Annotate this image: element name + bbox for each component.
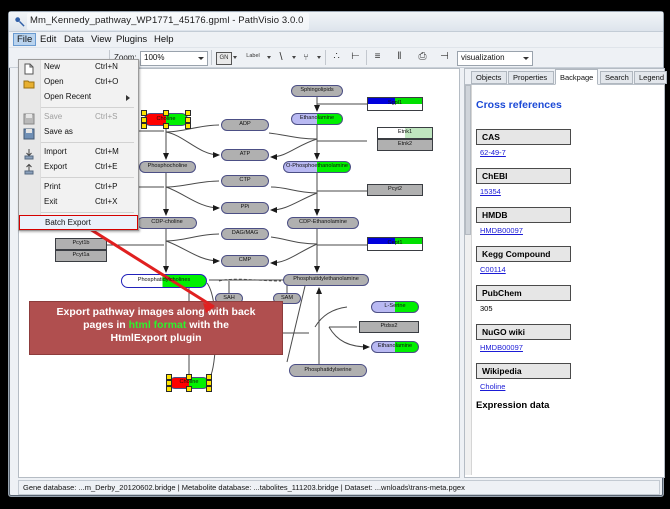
cross-reference-list: CAS62-49-7ChEBI15354HMDBHMDB00097Kegg Co… bbox=[472, 127, 662, 391]
xref-row: PubChem305 bbox=[476, 283, 662, 313]
xref-header: ChEBI bbox=[476, 168, 571, 184]
title-bar: Mm_Kennedy_pathway_WP1771_45176.gpml - P… bbox=[9, 12, 663, 32]
node-label: DAG/MAG bbox=[232, 231, 258, 237]
node-label: ADP bbox=[239, 122, 251, 128]
save-icon bbox=[23, 112, 35, 123]
interaction-tool-button[interactable]: ⊢ bbox=[349, 51, 362, 62]
align-tool-button[interactable]: ≡ bbox=[371, 51, 384, 62]
menu-data[interactable]: Data bbox=[60, 33, 88, 46]
xref-header: NuGO wiki bbox=[476, 324, 571, 340]
file-menu-popup[interactable]: NewCtrl+NOpenCtrl+OOpen RecentSaveCtrl+S… bbox=[18, 59, 139, 231]
folder-open-icon bbox=[23, 77, 35, 88]
xref-header: HMDB bbox=[476, 207, 571, 223]
group-tool-button[interactable]: ⊣ bbox=[438, 51, 451, 62]
datanode-dropdown-icon[interactable] bbox=[233, 56, 237, 59]
menu-item-label: Save bbox=[44, 112, 62, 121]
xref-value[interactable]: 15354 bbox=[480, 187, 662, 196]
menu-item-new[interactable]: NewCtrl+N bbox=[19, 60, 138, 75]
xref-value[interactable]: HMDB00097 bbox=[480, 343, 662, 352]
node-label: Phosphatidylethanolamine bbox=[293, 277, 359, 283]
zoom-value: 100% bbox=[144, 53, 164, 62]
xref-row: WikipediaCholine bbox=[476, 361, 662, 391]
xref-header: Kegg Compound bbox=[476, 246, 571, 262]
menu-item-label: Open Recent bbox=[44, 92, 91, 101]
xref-header: Wikipedia bbox=[476, 363, 571, 379]
label-tool-button[interactable]: Label bbox=[242, 53, 264, 59]
node-label: ATP bbox=[240, 152, 250, 158]
node-label: Choline bbox=[157, 117, 176, 123]
menu-plugins[interactable]: Plugins bbox=[112, 33, 151, 46]
menu-item-accelerator: Ctrl+X bbox=[95, 197, 117, 206]
node-label: Ethanolamine bbox=[300, 116, 334, 122]
xref-value[interactable]: C00114 bbox=[480, 265, 662, 274]
xref-row: ChEBI15354 bbox=[476, 166, 662, 196]
xref-value[interactable]: HMDB00097 bbox=[480, 226, 662, 235]
node-label: Phosphocholine bbox=[148, 164, 188, 170]
tab-backpage[interactable]: Backpage bbox=[555, 69, 598, 85]
xref-header: PubChem bbox=[476, 285, 571, 301]
expression-data-title: Expression data bbox=[476, 400, 662, 411]
node-label: SAM bbox=[281, 296, 293, 302]
window-title: Mm_Kennedy_pathway_WP1771_45176.gpml - P… bbox=[30, 15, 304, 26]
menu-item-label: Print bbox=[44, 182, 60, 191]
print-tool-button[interactable]: ⎙ bbox=[416, 51, 429, 62]
side-panel-scrollbar[interactable] bbox=[465, 85, 472, 475]
node-label: Etnk1 bbox=[398, 130, 412, 136]
node-label: Pcyt1b bbox=[72, 241, 89, 247]
menu-item-label: Batch Export bbox=[45, 218, 91, 227]
node-label: CDP-Ethanolamine bbox=[299, 220, 347, 226]
line-tool-button[interactable]: \ bbox=[275, 51, 287, 63]
node-label: L-Serine bbox=[384, 304, 405, 310]
receptor-tool-button[interactable]: ⑂ bbox=[300, 52, 312, 62]
application-window: Mm_Kennedy_pathway_WP1771_45176.gpml - P… bbox=[8, 11, 664, 497]
menu-help[interactable]: Help bbox=[150, 33, 178, 46]
menu-item-label: Open bbox=[44, 77, 64, 86]
anchor-tool-button[interactable]: ∴ bbox=[330, 51, 343, 62]
menu-edit[interactable]: Edit bbox=[36, 33, 60, 46]
menu-item-open[interactable]: OpenCtrl+O bbox=[19, 75, 138, 90]
side-panel: Objects Properties Backpage Search Legen… bbox=[464, 68, 665, 478]
node-label: Ethanolamine bbox=[378, 344, 412, 350]
save-as-icon bbox=[23, 127, 35, 138]
line-dropdown-icon[interactable] bbox=[292, 56, 296, 59]
import-icon bbox=[23, 147, 35, 158]
menu-item-accelerator: Ctrl+P bbox=[95, 182, 117, 191]
datanode-tool-button[interactable]: GN bbox=[216, 52, 232, 65]
node-label: Sphingolipids bbox=[300, 88, 333, 94]
menu-item-print[interactable]: PrintCtrl+P bbox=[19, 180, 138, 195]
receptor-dropdown-icon[interactable] bbox=[317, 56, 321, 59]
menu-item-accelerator: Ctrl+S bbox=[95, 112, 117, 121]
xref-value: 305 bbox=[480, 304, 662, 313]
distribute-tool-button[interactable]: ‖ bbox=[393, 51, 406, 62]
xref-row: CAS62-49-7 bbox=[476, 127, 662, 157]
scrollbar-thumb[interactable] bbox=[465, 85, 471, 235]
node-label: CDP-choline bbox=[151, 220, 182, 226]
chevron-down-icon bbox=[523, 57, 529, 60]
xref-header: CAS bbox=[476, 129, 571, 145]
file-menu-items: NewCtrl+NOpenCtrl+OOpen RecentSaveCtrl+S… bbox=[19, 60, 138, 230]
menu-item-export[interactable]: ExportCtrl+E bbox=[19, 160, 138, 175]
new-document-icon bbox=[23, 62, 35, 73]
menu-item-accelerator: Ctrl+M bbox=[95, 147, 119, 156]
tab-search[interactable]: Search bbox=[600, 71, 633, 84]
node-label: Choline bbox=[180, 380, 199, 386]
xref-row: NuGO wikiHMDB00097 bbox=[476, 322, 662, 352]
tab-objects[interactable]: Objects bbox=[471, 71, 507, 84]
visualization-combobox[interactable]: visualization bbox=[457, 51, 533, 66]
cross-references-title: Cross references bbox=[476, 99, 662, 111]
menu-item-label: Import bbox=[44, 147, 67, 156]
node-label: Etnk2 bbox=[398, 142, 412, 148]
menu-item-accelerator: Ctrl+E bbox=[95, 162, 117, 171]
menu-item-open-recent[interactable]: Open Recent bbox=[19, 90, 138, 105]
node-label: Pcyt2 bbox=[388, 187, 402, 193]
node-label: SAH bbox=[223, 296, 235, 302]
menu-item-batch-export[interactable]: Batch Export bbox=[19, 215, 138, 230]
menu-bar: File Edit Data View Plugins Help bbox=[9, 32, 663, 48]
submenu-arrow-icon bbox=[126, 95, 130, 101]
status-text: Gene database: ...m_Derby_20120602.bridg… bbox=[23, 483, 465, 492]
backpage-content: Cross references CAS62-49-7ChEBI15354HMD… bbox=[472, 85, 662, 475]
menu-item-save-as[interactable]: Save as bbox=[19, 125, 138, 140]
export-icon bbox=[23, 162, 35, 173]
tab-legend[interactable]: Legend bbox=[634, 71, 667, 84]
node-label: CMP bbox=[239, 258, 251, 264]
tab-properties[interactable]: Properties bbox=[508, 71, 554, 84]
status-bar: Gene database: ...m_Derby_20120602.bridg… bbox=[18, 480, 660, 495]
menu-item-accelerator: Ctrl+O bbox=[95, 77, 118, 86]
chevron-down-icon bbox=[198, 57, 204, 60]
label-dropdown-icon[interactable] bbox=[267, 56, 271, 59]
screenshot-root: Mm_Kennedy_pathway_WP1771_45176.gpml - P… bbox=[0, 0, 670, 509]
node-label: O-Phosphoethanolamine bbox=[286, 164, 348, 170]
menu-item-save: SaveCtrl+S bbox=[19, 110, 138, 125]
pathvisio-icon bbox=[14, 16, 25, 27]
menu-item-label: Exit bbox=[44, 197, 57, 206]
node-label: Cept1 bbox=[388, 241, 403, 247]
node-label: Pcyt1a bbox=[72, 253, 89, 259]
node-label: Sgpl1 bbox=[388, 101, 402, 107]
xref-row: HMDBHMDB00097 bbox=[476, 205, 662, 235]
xref-value[interactable]: Choline bbox=[480, 382, 662, 391]
node-label: Phosphatidylserine bbox=[304, 368, 351, 374]
node-label: PPi bbox=[241, 205, 250, 211]
xref-value[interactable]: 62-49-7 bbox=[480, 148, 662, 157]
node-label: Phosphatidylcholines bbox=[138, 278, 191, 284]
menu-item-import[interactable]: ImportCtrl+M bbox=[19, 145, 138, 160]
menu-item-accelerator: Ctrl+N bbox=[95, 62, 118, 71]
menu-item-label: Export bbox=[44, 162, 67, 171]
node-label: CTP bbox=[239, 178, 250, 184]
menu-item-exit[interactable]: ExitCtrl+X bbox=[19, 195, 138, 210]
zoom-combobox[interactable]: 100% bbox=[140, 51, 208, 66]
visualization-value: visualization bbox=[461, 53, 505, 62]
menu-file[interactable]: File bbox=[13, 33, 36, 46]
menu-item-label: New bbox=[44, 62, 60, 71]
side-panel-tabs: Objects Properties Backpage Search Legen… bbox=[465, 69, 664, 85]
menu-item-label: Save as bbox=[44, 127, 73, 136]
node-label: Ptdss2 bbox=[380, 324, 397, 330]
xref-row: Kegg CompoundC00114 bbox=[476, 244, 662, 274]
